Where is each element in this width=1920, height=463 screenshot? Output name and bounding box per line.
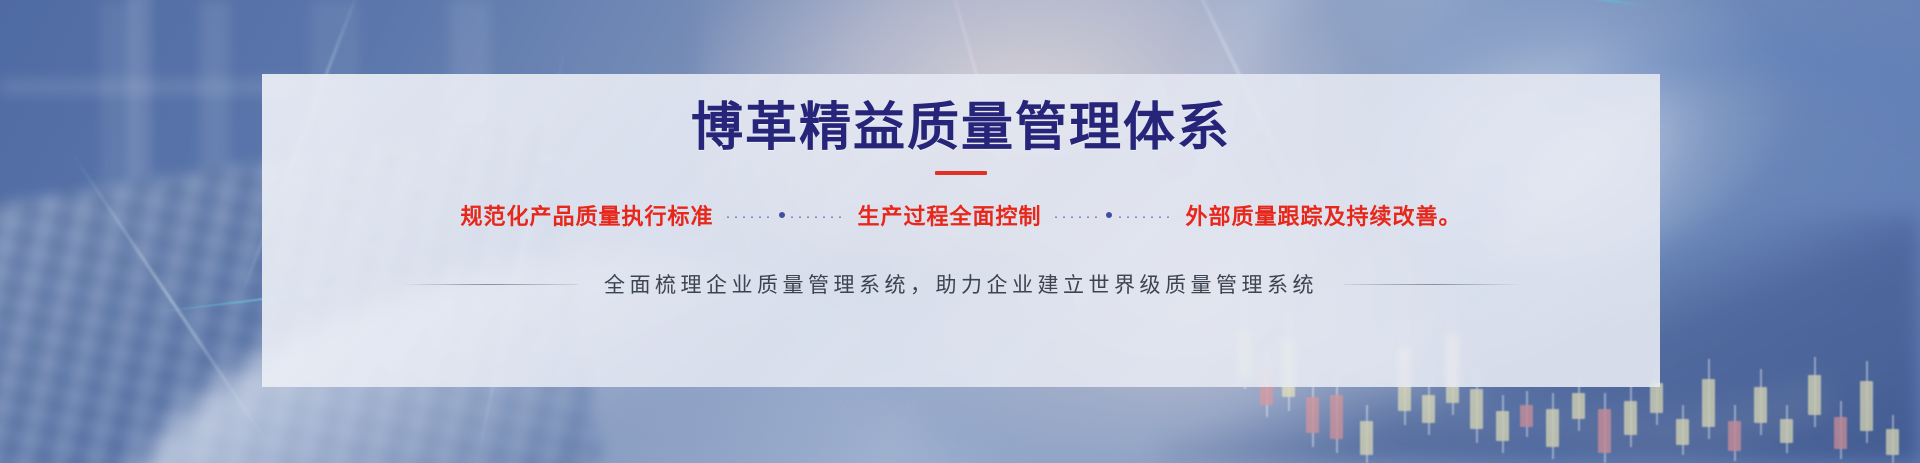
subtitle-row: 规范化产品质量执行标准 ······ ······· 生产过程全面控制 ····…	[461, 199, 1462, 231]
candlestick-body	[1808, 375, 1821, 415]
candlestick	[1728, 253, 1741, 463]
candlestick-body	[1650, 383, 1663, 413]
dot-separator-icon: ······ ·······	[726, 208, 846, 223]
candlestick-body	[1754, 387, 1767, 423]
tagline-rule-right	[1344, 284, 1522, 285]
tagline-rule-left	[400, 284, 578, 285]
candlestick-body	[1702, 379, 1715, 427]
candlestick	[1780, 253, 1793, 463]
dot-separator-icon: ······ ·······	[1054, 208, 1174, 223]
dots-left: ······	[1054, 209, 1102, 224]
candlestick-body	[1598, 409, 1611, 453]
candlestick	[1860, 253, 1873, 463]
candlestick-body	[1728, 421, 1741, 451]
dot-marker-icon	[779, 212, 785, 218]
candlestick-body	[1780, 419, 1793, 443]
banner-stage: 博革精益质量管理体系 规范化产品质量执行标准 ······ ······· 生产…	[0, 0, 1920, 463]
tagline-text: 全面梳理企业质量管理系统，助力企业建立世界级质量管理系统	[604, 269, 1318, 299]
candlestick-body	[1306, 397, 1319, 433]
candlestick	[1808, 253, 1821, 463]
candlestick-body	[1360, 421, 1373, 455]
candlestick	[1834, 253, 1847, 463]
content-panel: 博革精益质量管理体系 规范化产品质量执行标准 ······ ······· 生产…	[262, 74, 1660, 387]
candlestick-body	[1470, 389, 1483, 429]
page-title: 博革精益质量管理体系	[691, 99, 1231, 157]
subtitle-item-1: 规范化产品质量执行标准	[461, 199, 714, 231]
subtitle-item-3: 外部质量跟踪及持续改善。	[1185, 199, 1461, 231]
background-cross-horizontal	[0, 78, 300, 96]
candlestick	[1754, 253, 1767, 463]
candlestick-body	[1496, 411, 1509, 441]
candlestick	[1676, 253, 1689, 463]
candlestick-body	[1520, 405, 1533, 427]
dots-right: ·······	[790, 209, 846, 224]
candlestick-body	[1624, 401, 1637, 435]
dot-marker-icon	[1106, 212, 1112, 218]
dots-left: ······	[726, 209, 774, 224]
title-divider	[935, 171, 987, 175]
candlestick-body	[1572, 393, 1585, 419]
candlestick-body	[1860, 381, 1873, 431]
candlestick	[1886, 253, 1899, 463]
candlestick-body	[1546, 409, 1559, 447]
candlestick-body	[1422, 395, 1435, 423]
dots-right: ·······	[1117, 209, 1173, 224]
candlestick-body	[1834, 417, 1847, 449]
candlestick-body	[1330, 395, 1343, 439]
subtitle-item-2: 生产过程全面控制	[857, 199, 1041, 231]
tagline-row: 全面梳理企业质量管理系统，助力企业建立世界级质量管理系统	[400, 269, 1522, 299]
candlestick-body	[1886, 429, 1899, 455]
candlestick-body	[1676, 419, 1689, 445]
candlestick	[1702, 253, 1715, 463]
